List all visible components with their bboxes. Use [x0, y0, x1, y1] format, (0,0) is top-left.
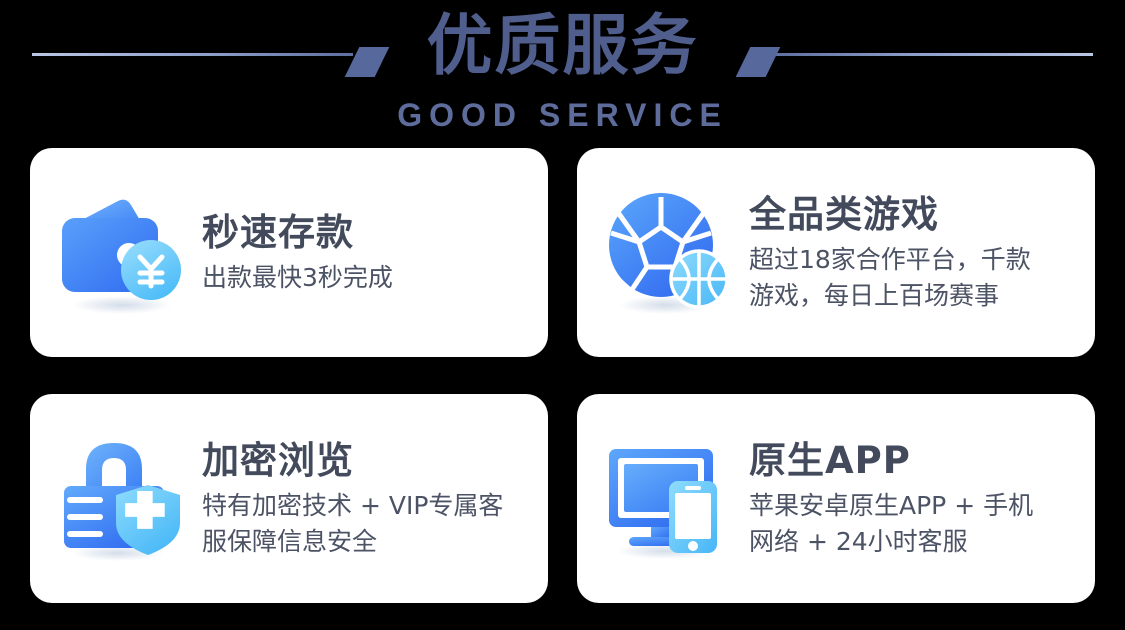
- lock-shield-icon: [56, 433, 188, 565]
- card-description-line: 超过18家合作平台，千款: [749, 242, 1079, 278]
- card-description-line: 特有加密技术 + VIP专属客: [202, 488, 532, 524]
- page-title: 优质服务: [0, 4, 1125, 88]
- wallet-yen-icon: [56, 187, 188, 319]
- soccer-basketball-icon: [603, 187, 735, 319]
- feature-card-grid: 秒速存款 出款最快3秒完成: [30, 148, 1095, 603]
- feature-card-app[interactable]: 原生APP 苹果安卓原生APP + 手机 网络 + 24小时客服: [577, 394, 1095, 603]
- card-description: 出款最快3秒完成: [202, 260, 532, 296]
- card-text-deposit: 秒速存款 出款最快3秒完成: [202, 210, 532, 296]
- card-description-line: 苹果安卓原生APP + 手机: [749, 488, 1079, 524]
- feature-card-deposit[interactable]: 秒速存款 出款最快3秒完成: [30, 148, 548, 357]
- card-description-line: 游戏，每日上百场赛事: [749, 278, 1079, 314]
- card-title: 全品类游戏: [749, 192, 1079, 238]
- card-description-line: 网络 + 24小时客服: [749, 524, 1079, 560]
- card-title: 原生APP: [749, 438, 1079, 484]
- page-header: 优质服务 GOOD SERVICE: [0, 0, 1125, 148]
- card-text-games: 全品类游戏 超过18家合作平台，千款 游戏，每日上百场赛事: [749, 192, 1079, 314]
- card-description-line: 出款最快3秒完成: [202, 260, 532, 296]
- card-text-app: 原生APP 苹果安卓原生APP + 手机 网络 + 24小时客服: [749, 438, 1079, 560]
- card-description: 苹果安卓原生APP + 手机 网络 + 24小时客服: [749, 488, 1079, 560]
- card-description-line: 服保障信息安全: [202, 524, 532, 560]
- page-subtitle: GOOD SERVICE: [0, 96, 1125, 134]
- feature-card-encryption[interactable]: 加密浏览 特有加密技术 + VIP专属客 服保障信息安全: [30, 394, 548, 603]
- monitor-phone-icon: [603, 433, 735, 565]
- card-description: 特有加密技术 + VIP专属客 服保障信息安全: [202, 488, 532, 560]
- card-title: 秒速存款: [202, 210, 532, 256]
- card-description: 超过18家合作平台，千款 游戏，每日上百场赛事: [749, 242, 1079, 314]
- card-title: 加密浏览: [202, 438, 532, 484]
- feature-card-games[interactable]: 全品类游戏 超过18家合作平台，千款 游戏，每日上百场赛事: [577, 148, 1095, 357]
- card-text-encryption: 加密浏览 特有加密技术 + VIP专属客 服保障信息安全: [202, 438, 532, 560]
